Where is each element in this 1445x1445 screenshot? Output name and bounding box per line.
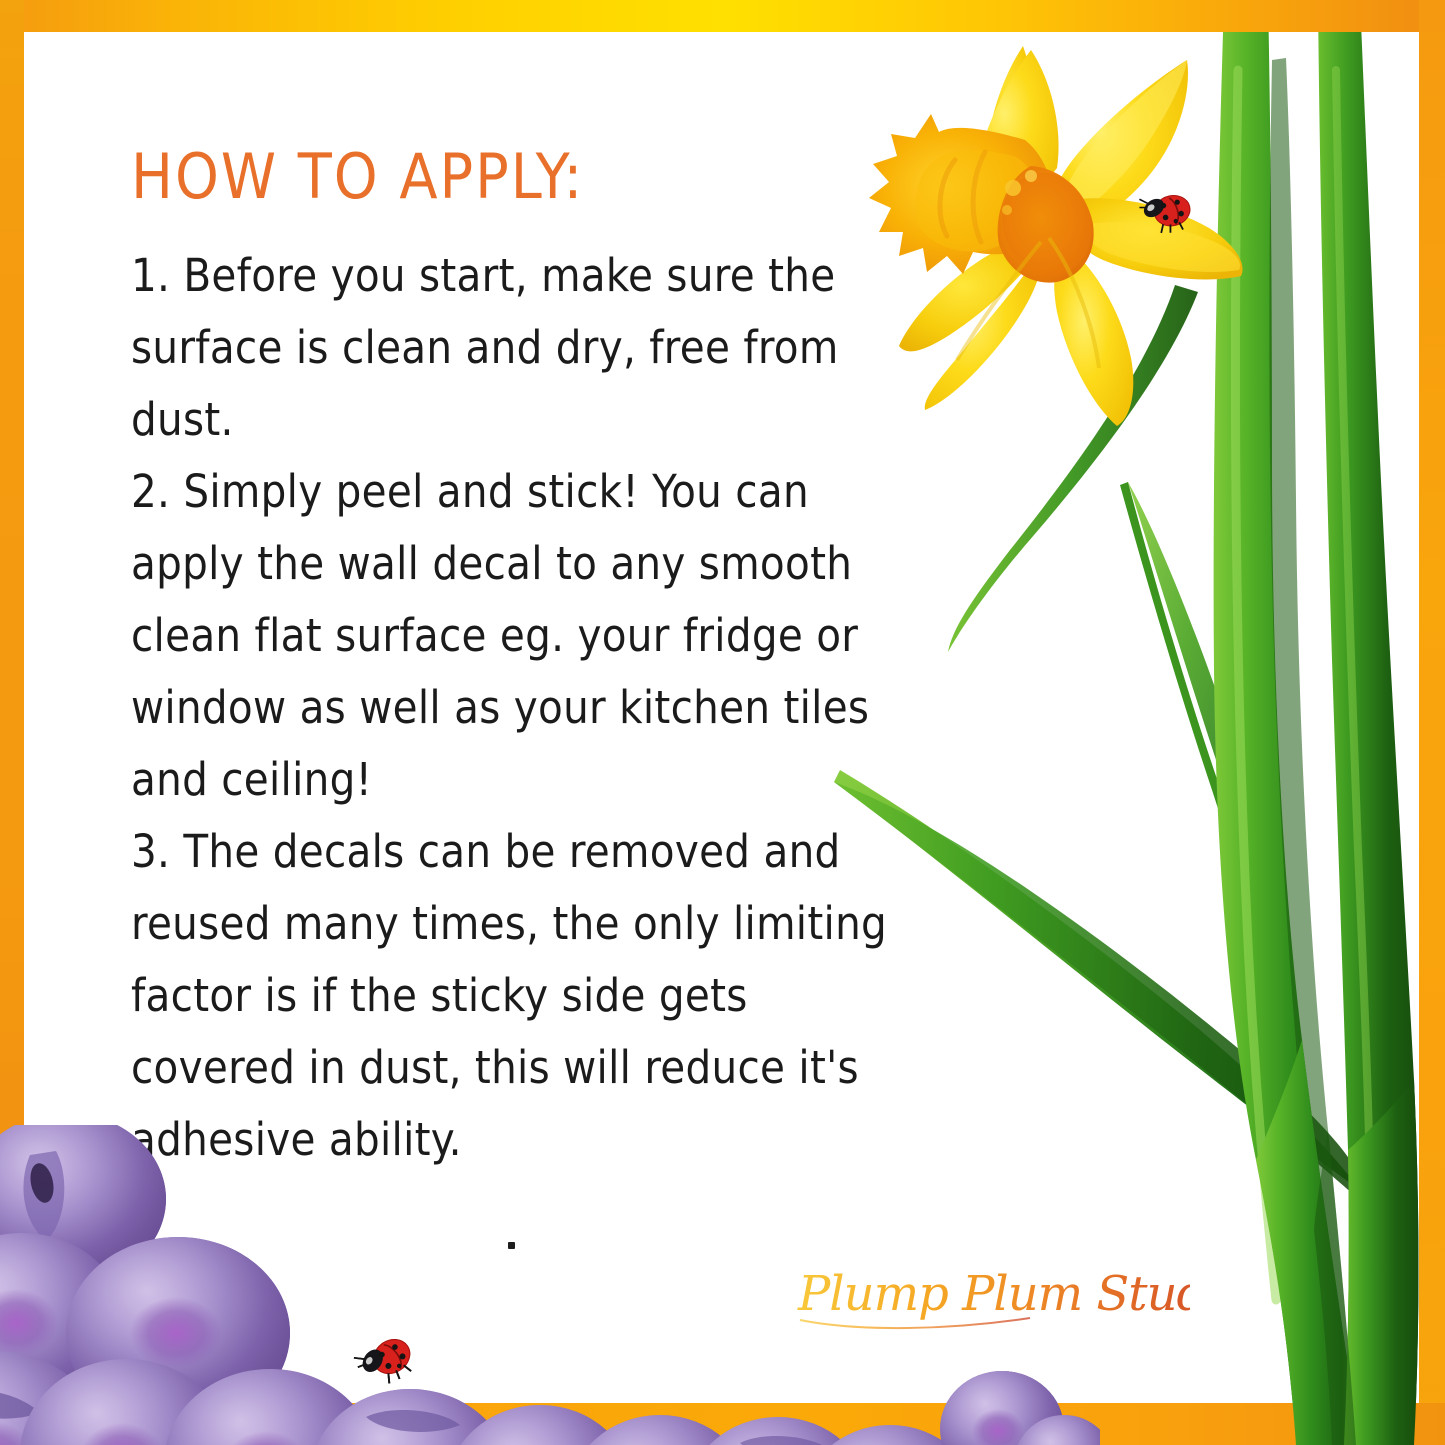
- border-top: [0, 0, 1445, 32]
- instruction-list: 1. Before you start, make sure the surfa…: [131, 240, 921, 1176]
- page-title: HOW TO APPLY:: [131, 142, 921, 212]
- list-item: 1. Before you start, make sure the surfa…: [131, 240, 921, 456]
- daffodil-foliage-overlay: [820, 30, 1445, 1445]
- poster-canvas: HOW TO APPLY: 1. Before you start, make …: [0, 0, 1445, 1445]
- instructions-panel: HOW TO APPLY: 1. Before you start, make …: [131, 142, 921, 1176]
- list-item: 2. Simply peel and stick! You can apply …: [131, 456, 921, 816]
- ladybug-on-plum-overlay: [352, 1329, 420, 1394]
- list-item: 3. The decals can be removed and reused …: [131, 816, 921, 1176]
